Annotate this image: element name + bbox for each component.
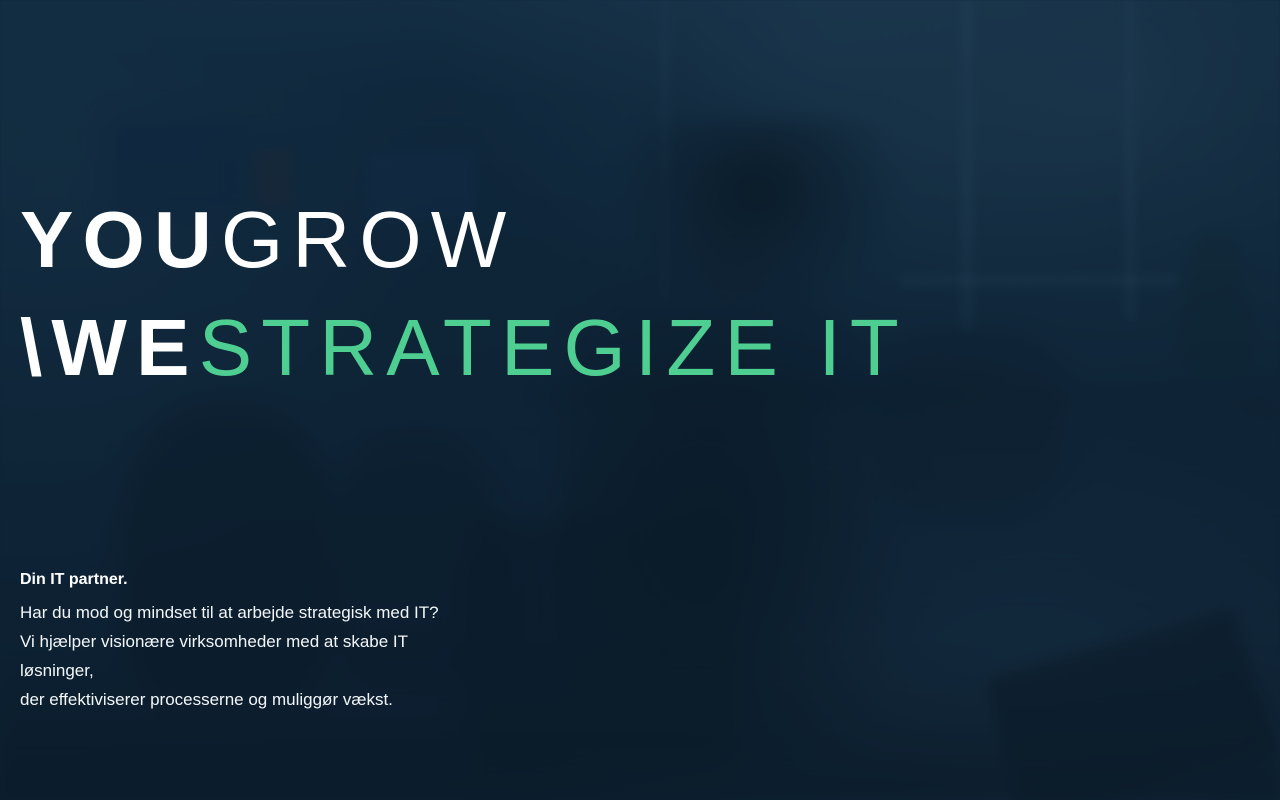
headline-line-2: \WESTRATEGIZE IT bbox=[20, 294, 908, 402]
body-lead: Din IT partner. bbox=[20, 568, 660, 591]
headline-we: \WE bbox=[20, 303, 199, 392]
headline-strategize-it: STRATEGIZE IT bbox=[199, 303, 908, 392]
headline-grow: GROW bbox=[221, 195, 516, 284]
body-line-1: Har du mod og mindset til at arbejde str… bbox=[20, 598, 660, 627]
body-line-2: Vi hjælper visionære virksomheder med at… bbox=[20, 627, 660, 656]
hero-content: YOUGROW \WESTRATEGIZE IT Din IT partner.… bbox=[0, 0, 1280, 800]
hero-body-copy: Din IT partner. Har du mod og mindset ti… bbox=[20, 568, 660, 714]
headline-line-1: YOUGROW bbox=[20, 186, 908, 294]
hero-section: YOUGROW \WESTRATEGIZE IT Din IT partner.… bbox=[0, 0, 1280, 800]
body-line-3: løsninger, bbox=[20, 656, 660, 685]
hero-headline: YOUGROW \WESTRATEGIZE IT bbox=[20, 186, 908, 402]
headline-you: YOU bbox=[20, 195, 221, 284]
body-line-4: der effektiviserer processerne og muligg… bbox=[20, 685, 660, 714]
